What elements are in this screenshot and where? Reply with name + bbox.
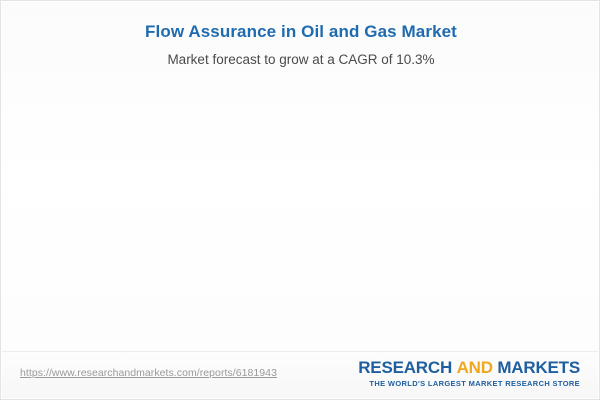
chart-plot-area: USD 7.1 Billion 2025 USD 18.93 Billion xyxy=(1,1,600,353)
market-forecast-chart-card: Flow Assurance in Oil and Gas Market Mar… xyxy=(0,0,600,400)
brand-tagline: THE WORLD'S LARGEST MARKET RESEARCH STOR… xyxy=(358,379,580,388)
report-url-link[interactable]: https://www.researchandmarkets.com/repor… xyxy=(20,367,277,379)
brand-word-markets: MARKETS xyxy=(497,358,580,377)
research-and-markets-logo[interactable]: RESEARCH AND MARKETS THE WORLD'S LARGEST… xyxy=(358,358,580,388)
chart-footer: https://www.researchandmarkets.com/repor… xyxy=(2,351,598,398)
brand-wordmark: RESEARCH AND MARKETS xyxy=(358,358,580,377)
brand-word-research: RESEARCH xyxy=(358,358,452,377)
brand-word-and: AND xyxy=(457,358,493,377)
